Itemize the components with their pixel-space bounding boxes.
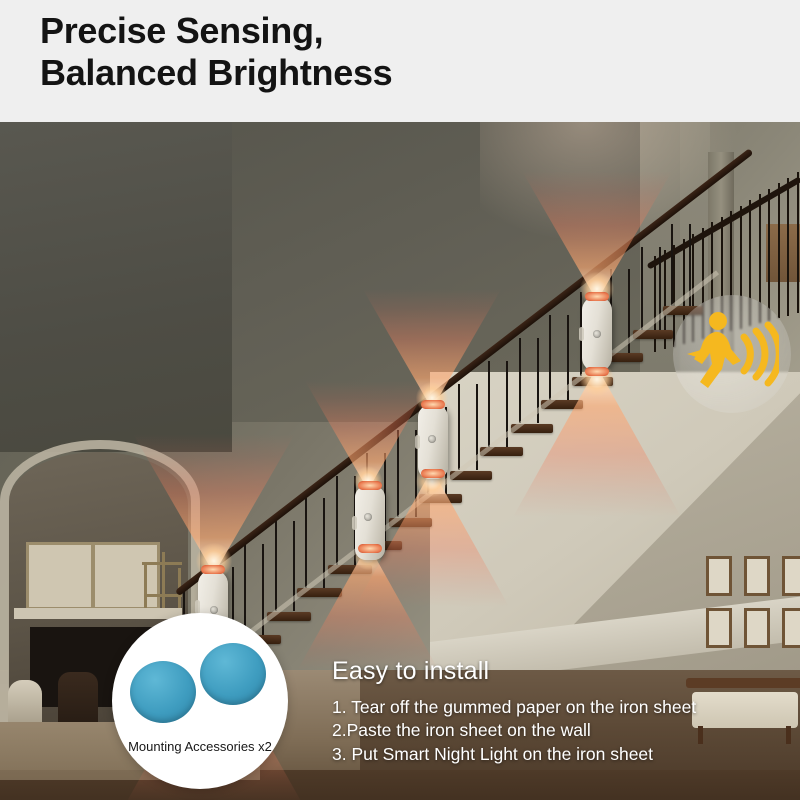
install-instructions: Easy to install 1. Tear off the gummed p…	[332, 657, 772, 766]
install-step: 2.Paste the iron sheet on the wall	[332, 719, 772, 742]
motion-sensor-dot	[593, 330, 601, 338]
accessories-label: Mounting Accessories x2	[112, 739, 288, 754]
lamp-side-nub	[579, 327, 584, 341]
product-feature-image: Precise Sensing, Balanced Brightness	[0, 0, 800, 800]
baluster	[397, 430, 399, 518]
lamp-emitter-top	[421, 400, 445, 409]
walking-person-motion-waves-icon	[685, 309, 779, 399]
lamp-emitter-bottom	[421, 469, 445, 478]
baluster	[336, 476, 338, 565]
baluster	[488, 361, 490, 447]
baluster	[244, 544, 246, 635]
baluster	[549, 315, 551, 400]
lamp-side-nub	[415, 435, 420, 449]
lamp-emitter-bottom	[585, 367, 609, 376]
install-title: Easy to install	[332, 657, 772, 686]
mounting-accessories-callout: Mounting Accessories x2	[112, 613, 288, 789]
adhesive-disc	[200, 643, 266, 705]
lamp-emitter-top	[585, 292, 609, 301]
baluster	[305, 498, 307, 588]
lamp-side-nub	[352, 516, 357, 530]
baluster	[671, 224, 673, 306]
motion-sensor-dot	[428, 435, 436, 443]
baluster	[275, 521, 277, 611]
lamp-emitter-top	[201, 565, 225, 574]
lamp-side-nub	[195, 600, 200, 614]
baluster	[641, 247, 643, 330]
adhesive-disc	[130, 661, 196, 723]
lamp-emitter-top	[358, 481, 382, 490]
handrail	[175, 149, 753, 597]
install-step: 1. Tear off the gummed paper on the iron…	[332, 696, 772, 719]
install-step: 3. Put Smart Night Light on the iron she…	[332, 743, 772, 766]
lamp-emitter-bottom	[358, 544, 382, 553]
headline-banner: Precise Sensing, Balanced Brightness	[0, 0, 800, 122]
wall-lamp	[355, 486, 380, 548]
install-step-list: 1. Tear off the gummed paper on the iron…	[332, 696, 772, 766]
wall-lamp	[418, 405, 446, 473]
baluster	[458, 384, 460, 471]
page-title: Precise Sensing, Balanced Brightness	[40, 10, 392, 94]
motion-sensor-badge	[673, 295, 791, 413]
wall-lamp	[582, 297, 612, 371]
baluster	[519, 338, 521, 423]
stairway-photo: Mounting Accessories x2 Easy to install …	[0, 122, 800, 800]
